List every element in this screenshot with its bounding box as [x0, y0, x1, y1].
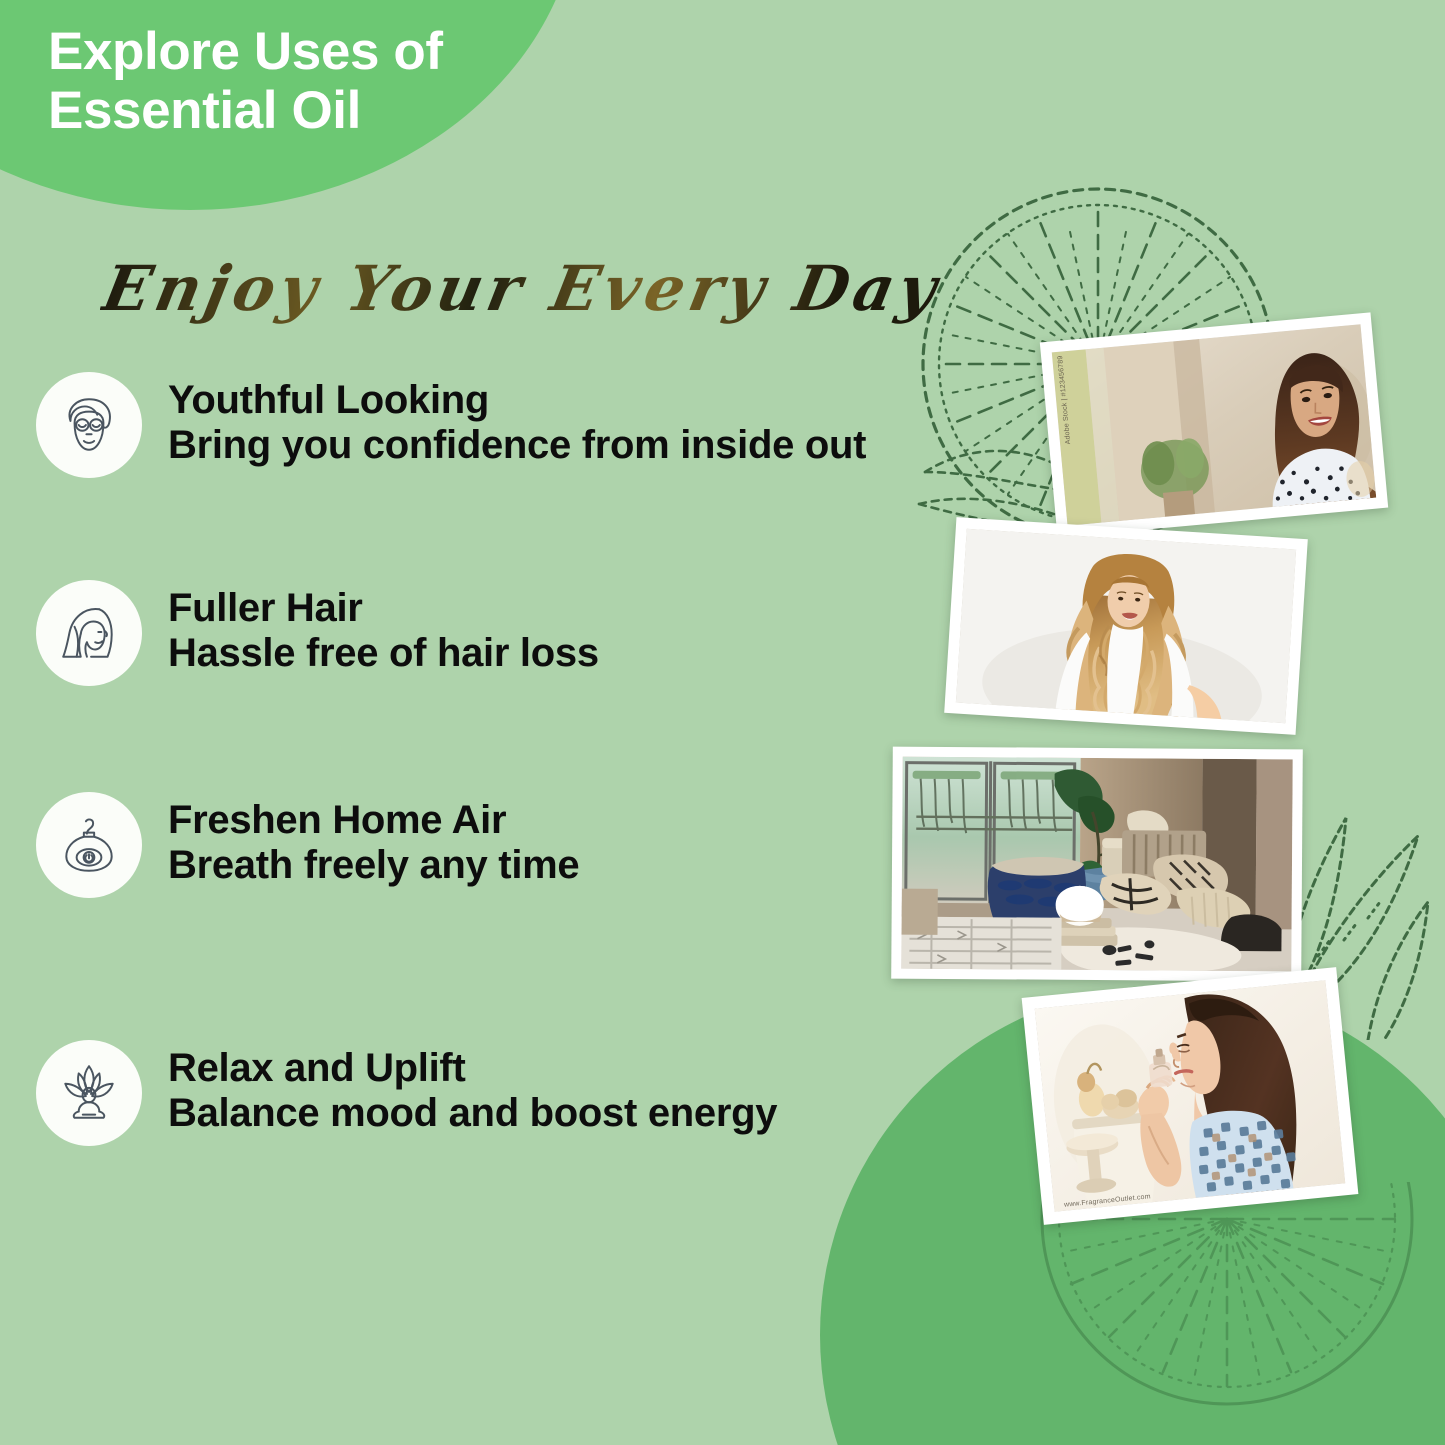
- infographic-canvas: Explore Uses of Essential Oil Enjoy Your…: [0, 0, 1445, 1445]
- photo-smiling-woman-cafe: Adobe Stock | #123456789: [1040, 312, 1388, 537]
- photo-boho-living-room: [891, 747, 1303, 982]
- photo-collage: Adobe Stock | #123456789: [0, 0, 1445, 1445]
- photo-blonde-wavy-hair: [944, 517, 1308, 735]
- photo-woman-applying-perfume: www.FragranceOutlet.com: [1022, 967, 1359, 1225]
